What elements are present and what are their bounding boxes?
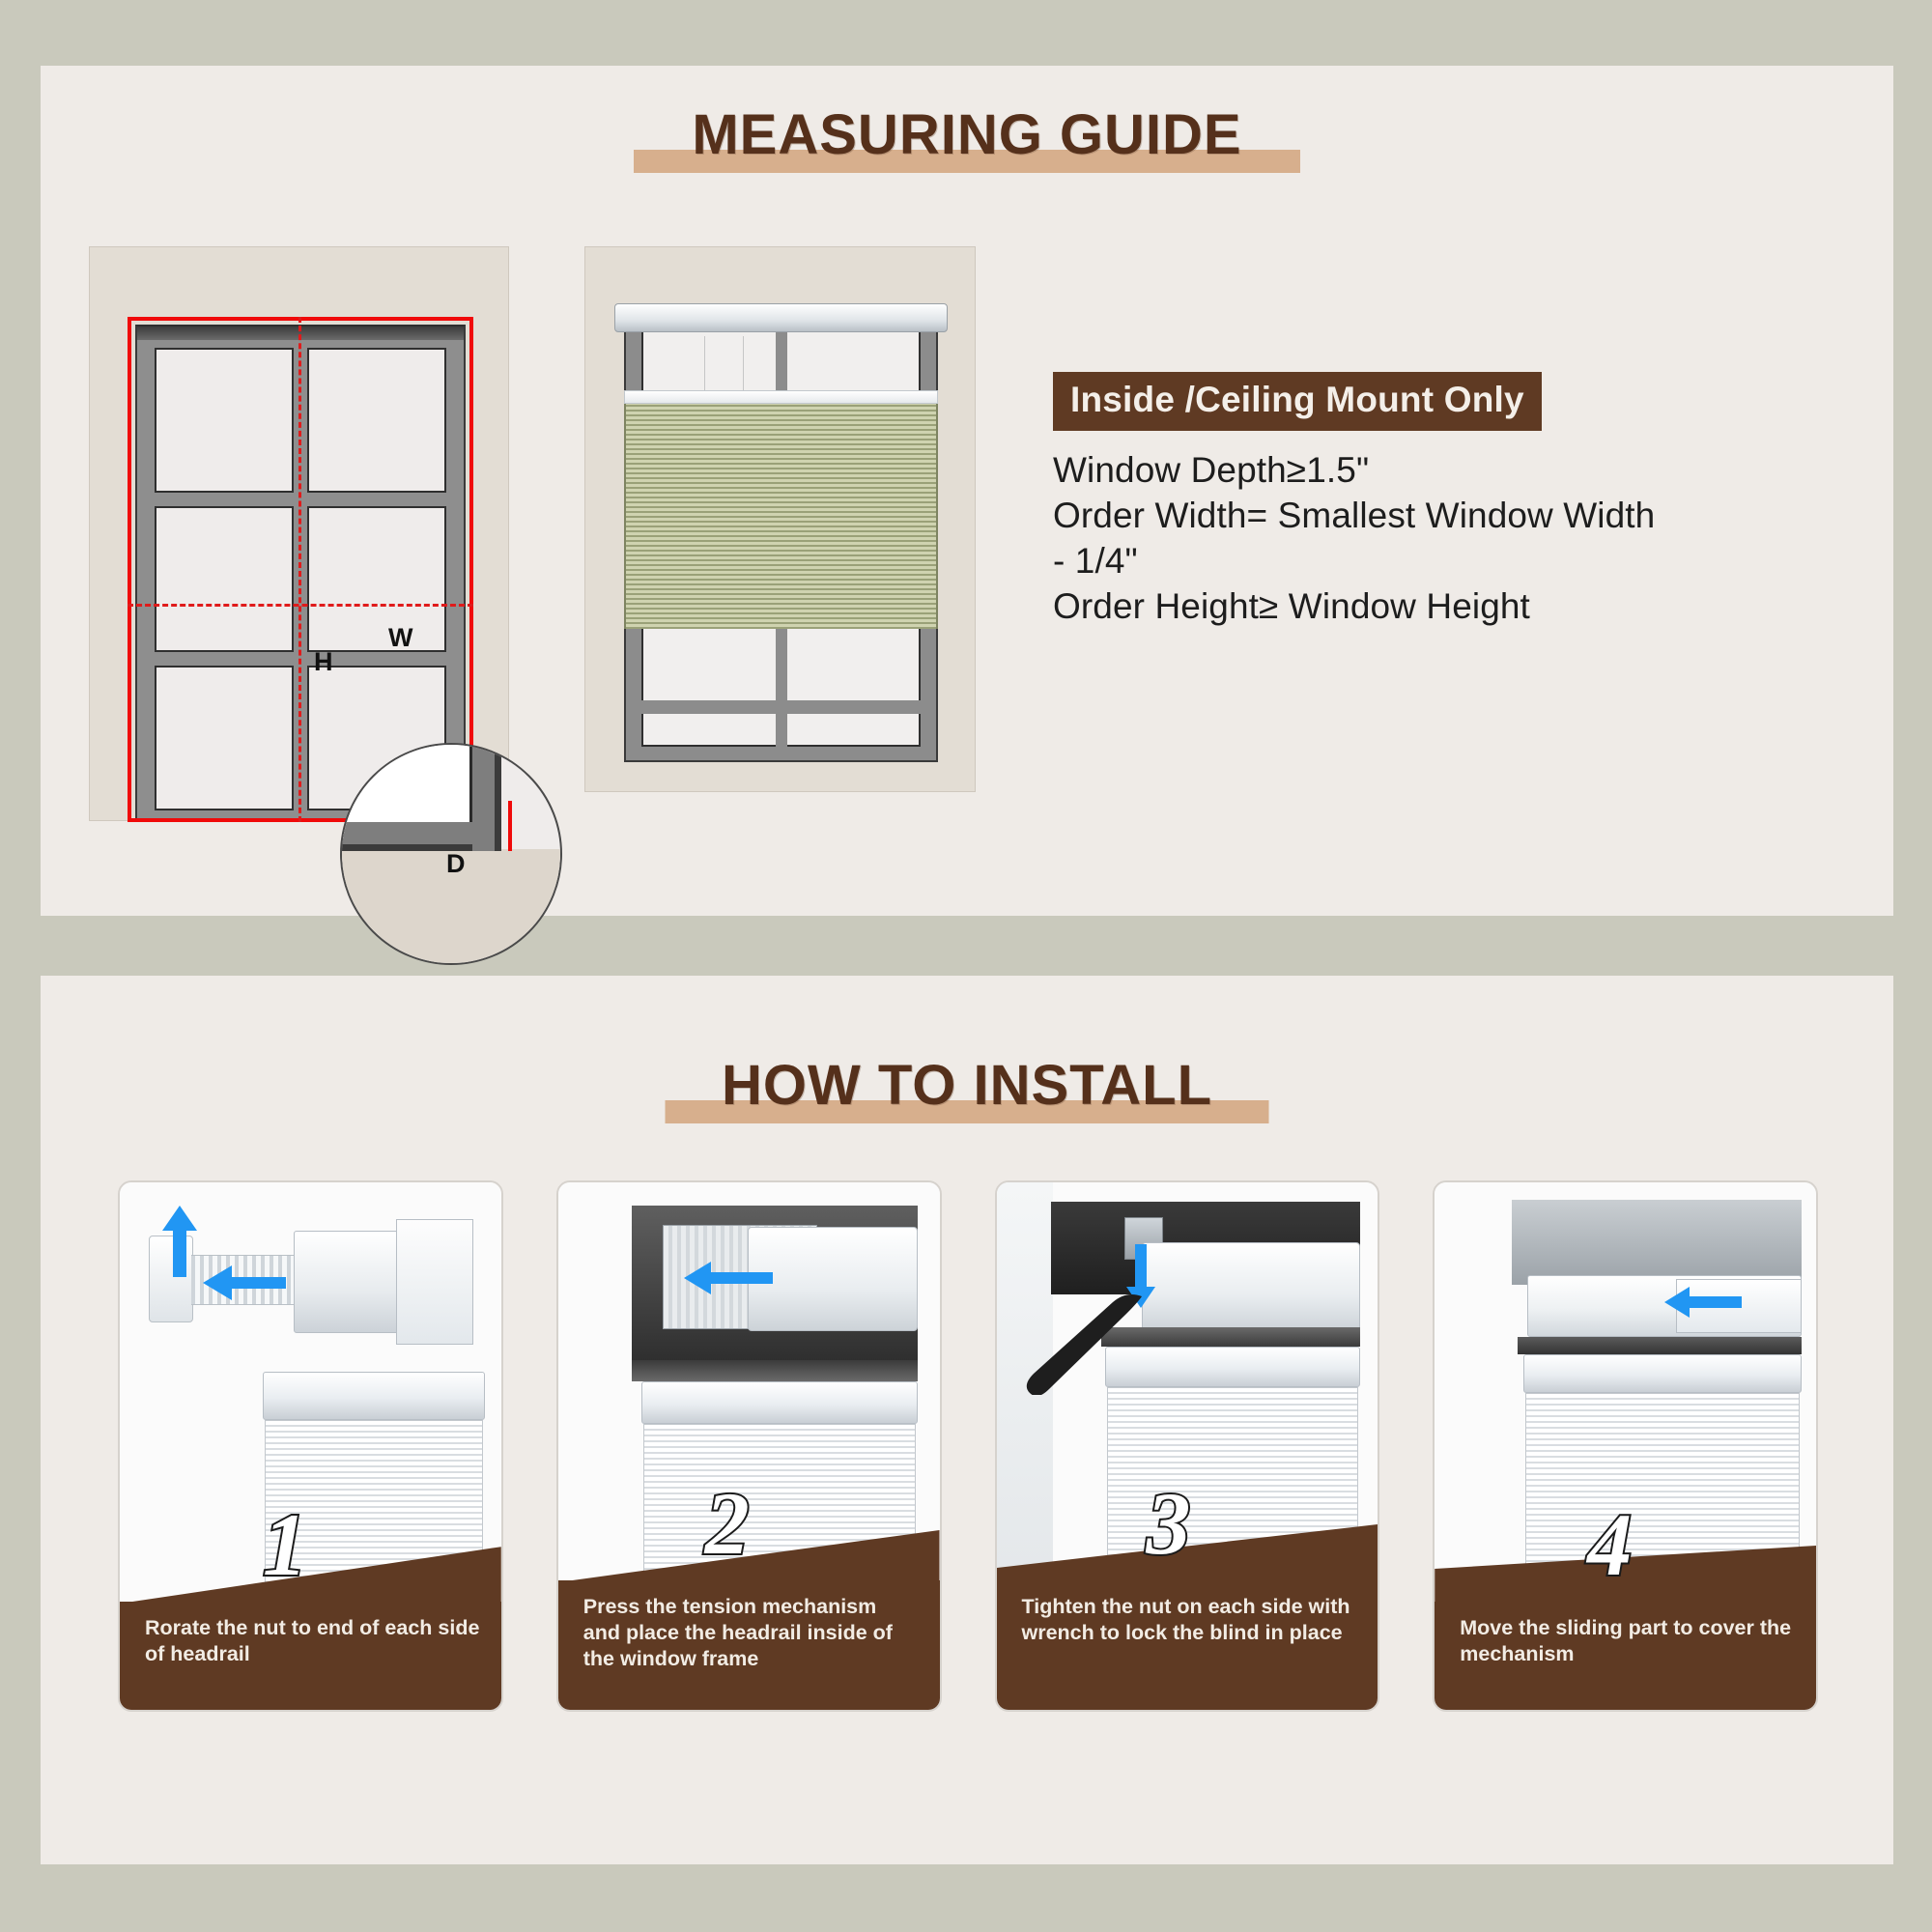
height-dashed-line [298, 317, 301, 822]
measuring-guide-title: MEASURING GUIDE [41, 102, 1893, 167]
step-number: 4 [1587, 1493, 1632, 1596]
step-number: 1 [263, 1493, 307, 1596]
mount-spec-block: Inside /Ceiling Mount Only Window Depth≥… [1053, 372, 1729, 630]
install-steps-row: 1 Rorate the nut to end of each side of … [118, 1180, 1818, 1712]
step-2-caption-text: Press the tension mechanism and place th… [583, 1595, 893, 1670]
spec-line-list: Window Depth≥1.5" Order Width= Smallest … [1053, 448, 1729, 630]
shade-cords [687, 336, 774, 390]
install-guide-title: HOW TO INSTALL [41, 1053, 1893, 1118]
install-step-3: 3 Tighten the nut on each side with wren… [995, 1180, 1380, 1712]
step-number: 3 [1147, 1472, 1191, 1575]
window-measure-diagram: H W D [89, 246, 509, 821]
width-dashed-line [128, 604, 473, 607]
window-sill-shadow [1518, 1337, 1802, 1354]
headrail [1142, 1242, 1360, 1331]
spec-line: Order Width= Smallest Window Width [1053, 494, 1729, 539]
measuring-guide-title-text: MEASURING GUIDE [692, 102, 1241, 167]
window-recess [1512, 1200, 1802, 1285]
install-step-1: 1 Rorate the nut to end of each side of … [118, 1180, 503, 1712]
shade-top-rail [624, 390, 938, 404]
depth-measure-red-mark [508, 801, 512, 851]
measuring-guide-panel: MEASURING GUIDE H W [41, 66, 1893, 916]
window-bottom-rail [641, 700, 921, 714]
install-guide-title-text: HOW TO INSTALL [722, 1053, 1212, 1118]
headrail [748, 1227, 918, 1331]
arrow-up-icon [160, 1206, 199, 1277]
height-label: H [314, 647, 333, 677]
cellular-shade-fabric [624, 402, 938, 629]
wrench-tool [1018, 1291, 1144, 1395]
step-4-caption: Move the sliding part to cover the mecha… [1435, 1602, 1816, 1710]
step-1-caption-text: Rorate the nut to end of each side of he… [145, 1616, 479, 1665]
spec-line: Order Height≥ Window Height [1053, 584, 1729, 630]
width-label: W [388, 623, 412, 653]
depth-magnifier-circle: D [340, 743, 562, 965]
install-step-2: 2 Press the tension mechanism and place … [556, 1180, 942, 1712]
headrail-front [1523, 1354, 1802, 1393]
depth-label: D [446, 849, 466, 879]
install-guide-panel: HOW TO INSTALL [41, 976, 1893, 1864]
step-4-caption-text: Move the sliding part to cover the mecha… [1460, 1616, 1791, 1665]
headrail-front [641, 1381, 918, 1424]
step-number: 2 [705, 1472, 750, 1575]
install-step-4: 4 Move the sliding part to cover the mec… [1433, 1180, 1818, 1712]
step-3-caption: Tighten the nut on each side with wrench… [997, 1580, 1378, 1710]
blind-headrail [614, 303, 948, 332]
infographic-page: MEASURING GUIDE H W [0, 0, 1932, 1932]
headrail-end-part [396, 1219, 473, 1345]
spec-line: Window Depth≥1.5" [1053, 448, 1729, 494]
step-2-caption: Press the tension mechanism and place th… [558, 1580, 940, 1710]
step-1-caption: Rorate the nut to end of each side of he… [120, 1602, 501, 1710]
step-3-caption-text: Tighten the nut on each side with wrench… [1022, 1595, 1350, 1644]
spec-line: - 1/4" [1053, 539, 1729, 584]
arrow-left-icon [1664, 1287, 1742, 1318]
mount-type-badge: Inside /Ceiling Mount Only [1053, 372, 1542, 431]
magnifier-jamb [472, 743, 501, 851]
cord-line [743, 336, 744, 390]
arrow-left-icon [684, 1262, 773, 1294]
window-sill-shadow [632, 1360, 918, 1381]
headrail [263, 1372, 485, 1420]
cord-line [704, 336, 705, 390]
installed-blind-diagram [584, 246, 976, 792]
arrow-left-icon [203, 1265, 286, 1300]
